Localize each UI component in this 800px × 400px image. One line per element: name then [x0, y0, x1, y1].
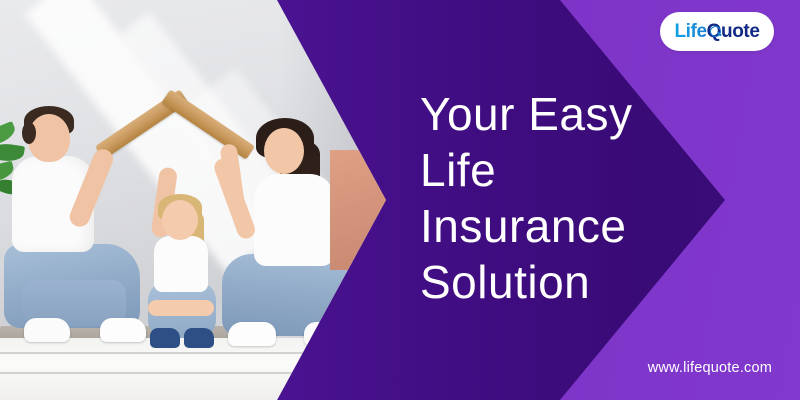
girl-head [162, 200, 198, 240]
logo-text: Life Quote [674, 21, 759, 43]
girl-torso [154, 236, 208, 292]
girl-shoe [184, 328, 214, 348]
website-url: www.lifequote.com [648, 360, 772, 376]
woman-torso [254, 174, 334, 266]
lifequote-logo[interactable]: Life Quote [660, 12, 774, 51]
logo-quote-text: Quote [707, 21, 760, 42]
girl-arms [148, 300, 214, 316]
man-shoe [24, 318, 70, 342]
headline: Your Easy Life Insurance Solution [420, 86, 750, 310]
logo-q-wrap: Quote [707, 21, 760, 43]
girl-shoe [150, 328, 180, 348]
person-girl [140, 196, 230, 356]
woman-shoe [228, 322, 276, 346]
woman-forearm [219, 143, 245, 209]
person-man [4, 104, 144, 354]
lifequote-banner: Life Quote Your Easy Life Insurance Solu… [0, 0, 800, 400]
logo-life-text: Life [674, 21, 706, 43]
man-hair-side [22, 122, 36, 144]
woman-head [264, 128, 304, 174]
